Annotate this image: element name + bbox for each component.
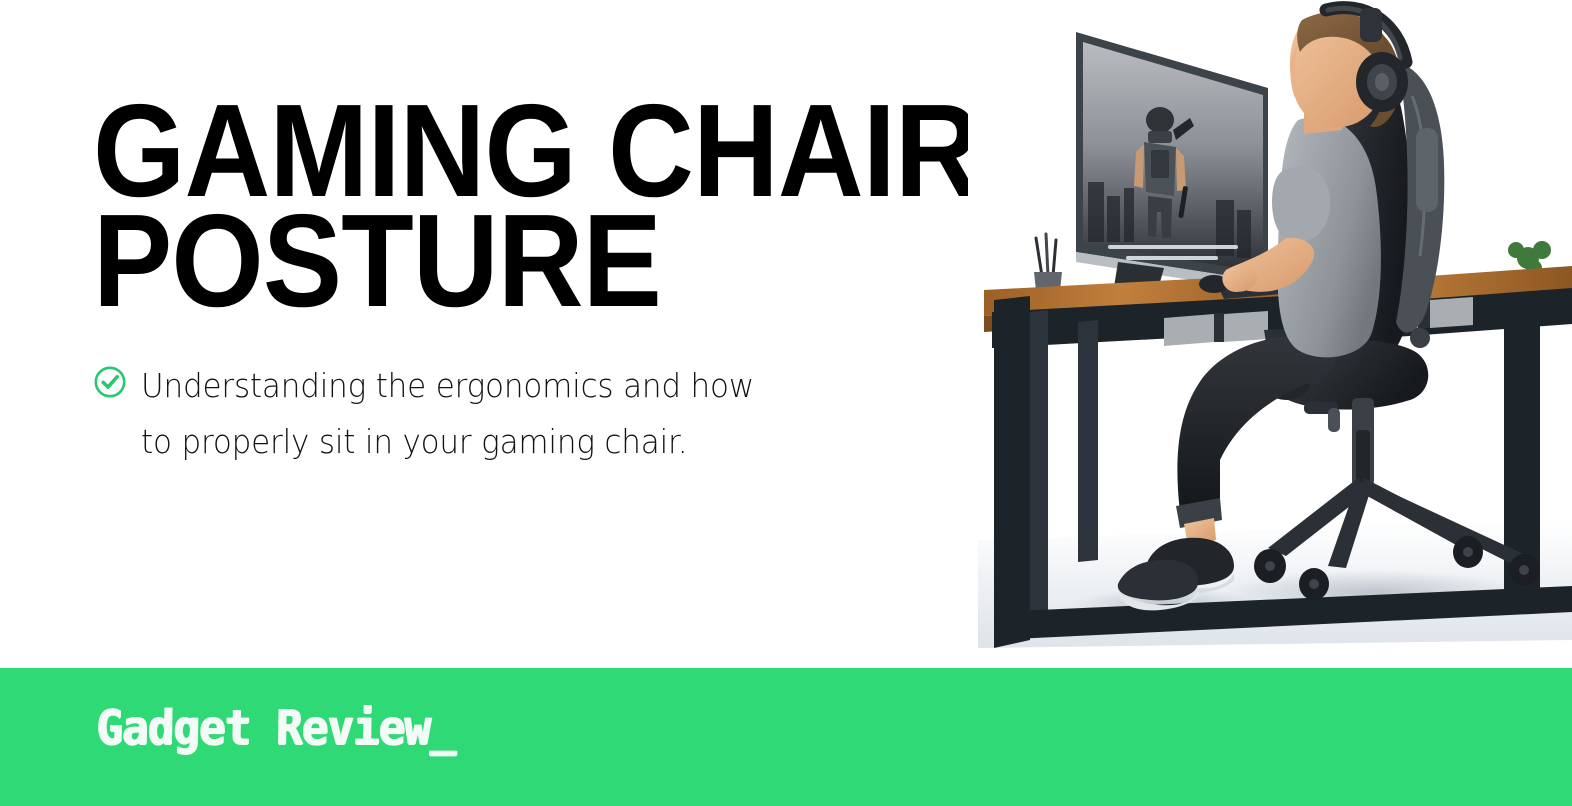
subtitle-line-1: Understanding the ergonomics and how — [141, 366, 754, 405]
subtitle-row: Understanding the ergonomics and how to … — [93, 358, 813, 470]
text-column: GAMING CHAIR POSTURE Understanding the e… — [93, 96, 893, 470]
check-circle-icon — [93, 365, 127, 399]
subtitle-line-2: to properly sit in your gaming chair. — [141, 422, 687, 461]
page-title: GAMING CHAIR POSTURE — [93, 96, 813, 316]
banner-root: GAMING CHAIR POSTURE Understanding the e… — [0, 0, 1572, 806]
subtitle-text: Understanding the ergonomics and how to … — [141, 358, 754, 470]
gaming-setup-illustration — [968, 0, 1572, 658]
footer-bar: Gadget Review_ — [0, 668, 1572, 806]
brand-logo[interactable]: Gadget Review_ — [96, 702, 456, 754]
